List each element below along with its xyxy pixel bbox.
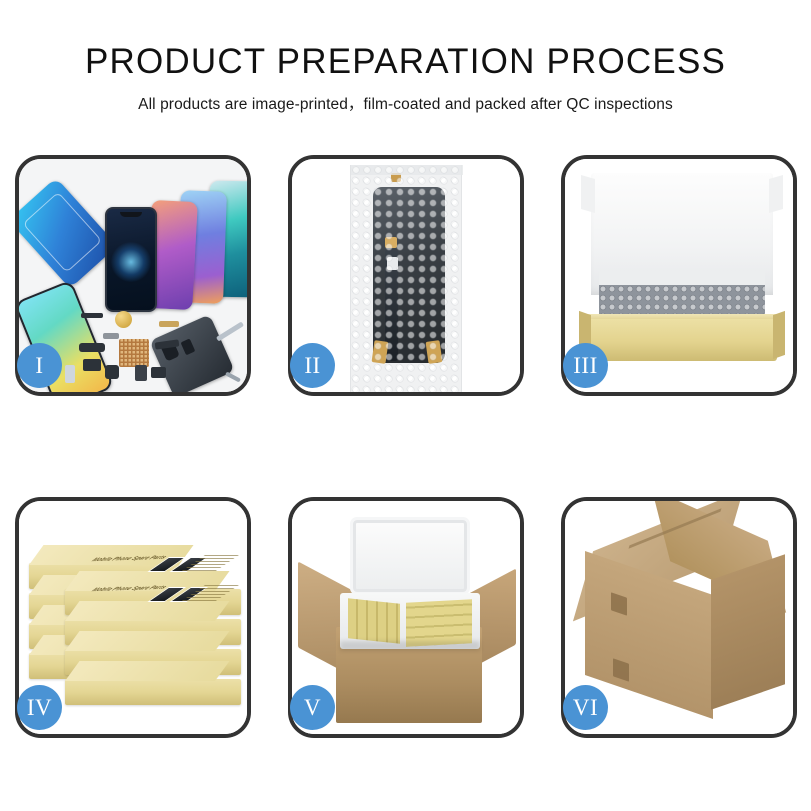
carton-face-side	[711, 554, 785, 709]
step-badge-3: III	[563, 343, 608, 388]
box-top-face	[65, 631, 230, 651]
kraft-box-front	[587, 319, 777, 361]
earpiece-part	[81, 313, 103, 318]
process-step-card-5[interactable]: V	[288, 497, 524, 738]
camera-module-part	[105, 365, 119, 379]
sim-tray-part	[65, 365, 75, 383]
foam-insert-lid	[350, 517, 470, 595]
process-step-card-6[interactable]: VI	[561, 497, 797, 738]
carton-face-front	[585, 551, 713, 719]
vibration-motor-part	[115, 311, 132, 328]
page-subtitle: All products are image-printed，film-coat…	[0, 92, 811, 114]
page-title: PRODUCT PREPARATION PROCESS	[0, 44, 811, 81]
connector-part	[83, 359, 101, 371]
bracket-part	[103, 333, 119, 339]
process-step-card-2[interactable]: II	[288, 155, 524, 396]
battery-part	[135, 365, 147, 381]
bubble-texture-overlay	[351, 165, 461, 392]
step-badge-4: IV	[17, 685, 62, 730]
process-step-card-4[interactable]: Mobile Phone Spare Parts Mobile Phone Sp…	[15, 497, 251, 738]
box-top-face	[65, 661, 230, 681]
tweezers-tool	[216, 321, 244, 341]
step-badge-1: I	[17, 343, 62, 388]
speaker-part	[151, 367, 166, 378]
flex-cable-part	[79, 343, 105, 352]
step-badge-2: II	[290, 343, 335, 388]
process-step-card-3[interactable]: III	[561, 155, 797, 396]
box-stack: Mobile Phone Spare Parts Mobile Phone Sp…	[27, 517, 245, 719]
phone-front-glass	[105, 207, 157, 312]
step-badge-5: V	[290, 685, 335, 730]
process-step-card-1[interactable]: I	[15, 155, 251, 396]
yellow-boxes-group-right	[406, 599, 472, 646]
gold-contact-part	[159, 321, 179, 327]
box-top-face: Mobile Phone Spare Parts	[65, 601, 230, 621]
process-step-grid: I II	[15, 155, 797, 738]
bubble-wrap-bag	[350, 165, 462, 392]
yellow-boxes-group-left	[348, 598, 400, 643]
copper-mesh-part	[119, 339, 149, 367]
page-header: PRODUCT PREPARATION PROCESS All products…	[0, 0, 811, 114]
carton-inner-shadow	[340, 641, 480, 651]
adhesive-sheet-blue	[19, 177, 118, 288]
step-badge-6: VI	[563, 685, 608, 730]
screw-part	[225, 371, 241, 382]
stacked-box	[65, 679, 241, 705]
